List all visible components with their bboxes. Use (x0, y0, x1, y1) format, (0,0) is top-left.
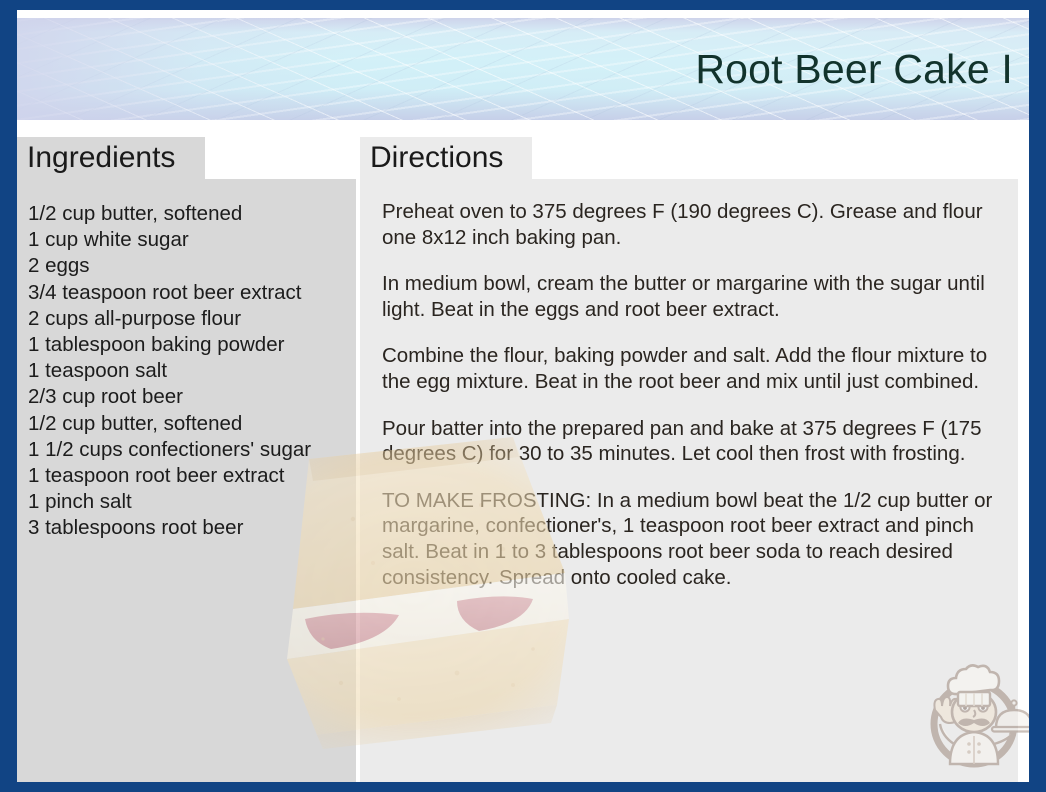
list-item: 1/2 cup butter, softened (28, 201, 352, 227)
direction-step: Preheat oven to 375 degrees F (190 degre… (382, 199, 1007, 250)
list-item: 1 cup white sugar (28, 227, 352, 253)
direction-step: In medium bowl, cream the butter or marg… (382, 271, 1007, 322)
direction-step: TO MAKE FROSTING: In a medium bowl beat … (382, 488, 1007, 590)
page-title: Root Beer Cake I (695, 46, 1013, 92)
tab-directions[interactable]: Directions (360, 137, 532, 179)
directions-panel: Preheat oven to 375 degrees F (190 degre… (360, 179, 1018, 782)
list-item: 1 teaspoon root beer extract (28, 463, 352, 489)
direction-step: Pour batter into the prepared pan and ba… (382, 416, 1007, 467)
list-item: 2 eggs (28, 253, 352, 279)
list-item: 1 1/2 cups confectioners' sugar (28, 437, 352, 463)
recipe-card: Root Beer Cake I Ingredients Directions … (0, 0, 1046, 792)
header-banner: Root Beer Cake I (17, 18, 1029, 120)
list-item: 1 tablespoon baking powder (28, 332, 352, 358)
list-item: 3 tablespoons root beer (28, 515, 352, 541)
list-item: 2 cups all-purpose flour (28, 306, 352, 332)
ingredients-list: 1/2 cup butter, softened 1 cup white sug… (28, 201, 352, 542)
direction-step: Combine the flour, baking powder and sal… (382, 343, 1007, 394)
tab-ingredients[interactable]: Ingredients (17, 137, 205, 179)
list-item: 1/2 cup butter, softened (28, 411, 352, 437)
list-item: 1 teaspoon salt (28, 358, 352, 384)
banner-left-fade (17, 18, 347, 120)
ingredients-panel: 1/2 cup butter, softened 1 cup white sug… (17, 179, 356, 782)
list-item: 3/4 teaspoon root beer extract (28, 280, 352, 306)
list-item: 2/3 cup root beer (28, 384, 352, 410)
list-item: 1 pinch salt (28, 489, 352, 515)
directions-body: Preheat oven to 375 degrees F (190 degre… (382, 199, 1007, 590)
recipe-card-inner: Root Beer Cake I Ingredients Directions … (17, 10, 1029, 782)
